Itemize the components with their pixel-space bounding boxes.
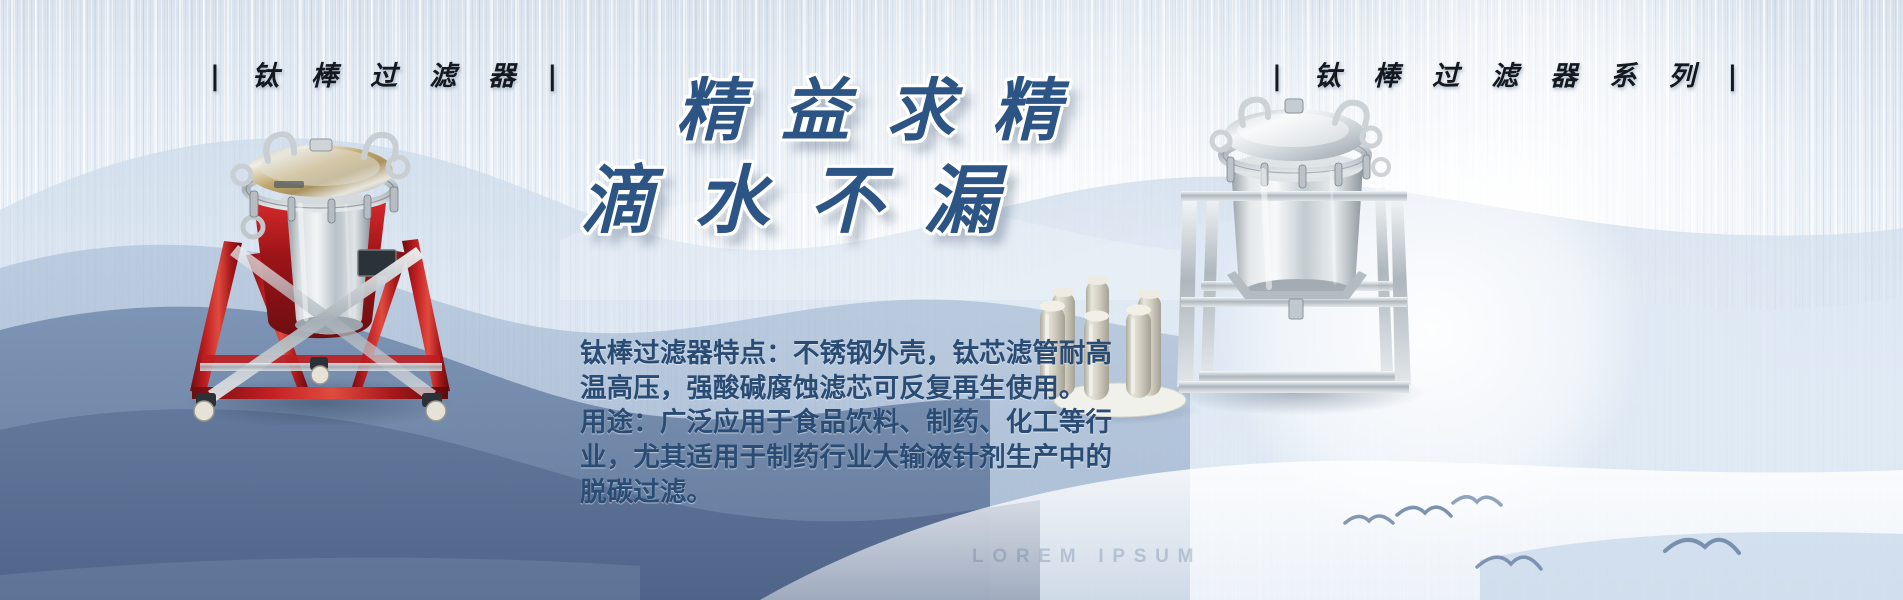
body-copy-line: 钛棒过滤器特点：不锈钢外壳，钛芯滤管耐高 [580,337,1220,372]
section-title-left: | 钛 棒 过 滤 器 | [210,54,569,93]
section-title-right: | 钛 棒 过 滤 器 系 列 | [1272,54,1749,93]
body-copy-line: 温高压，强酸碱腐蚀滤芯可反复再生使用。 [580,372,1220,407]
body-copy-line: 脱碳过滤。 [580,476,1220,511]
product-image-left [150,105,480,425]
body-copy-line: 用途：广泛应用于食品饮料、制药、化工等行 [580,406,1220,441]
promo-banner: | 钛 棒 过 滤 器 | | 钛 棒 过 滤 器 系 列 | 精 益 求 精 … [0,0,1903,600]
headline-line-2: 滴 水 不 漏 [580,164,1280,238]
body-copy-line: 业，尤其适用于制药行业大输液针剂生产中的 [580,441,1220,476]
watermark-text: LOREM IPSUM [972,546,1202,568]
headline-block: 精 益 求 精 滴 水 不 漏 [580,78,1280,238]
body-copy: 钛棒过滤器特点：不锈钢外壳，钛芯滤管耐高 温高压，强酸碱腐蚀滤芯可反复再生使用。… [580,337,1220,511]
headline-line-1: 精 益 求 精 [580,78,1280,146]
